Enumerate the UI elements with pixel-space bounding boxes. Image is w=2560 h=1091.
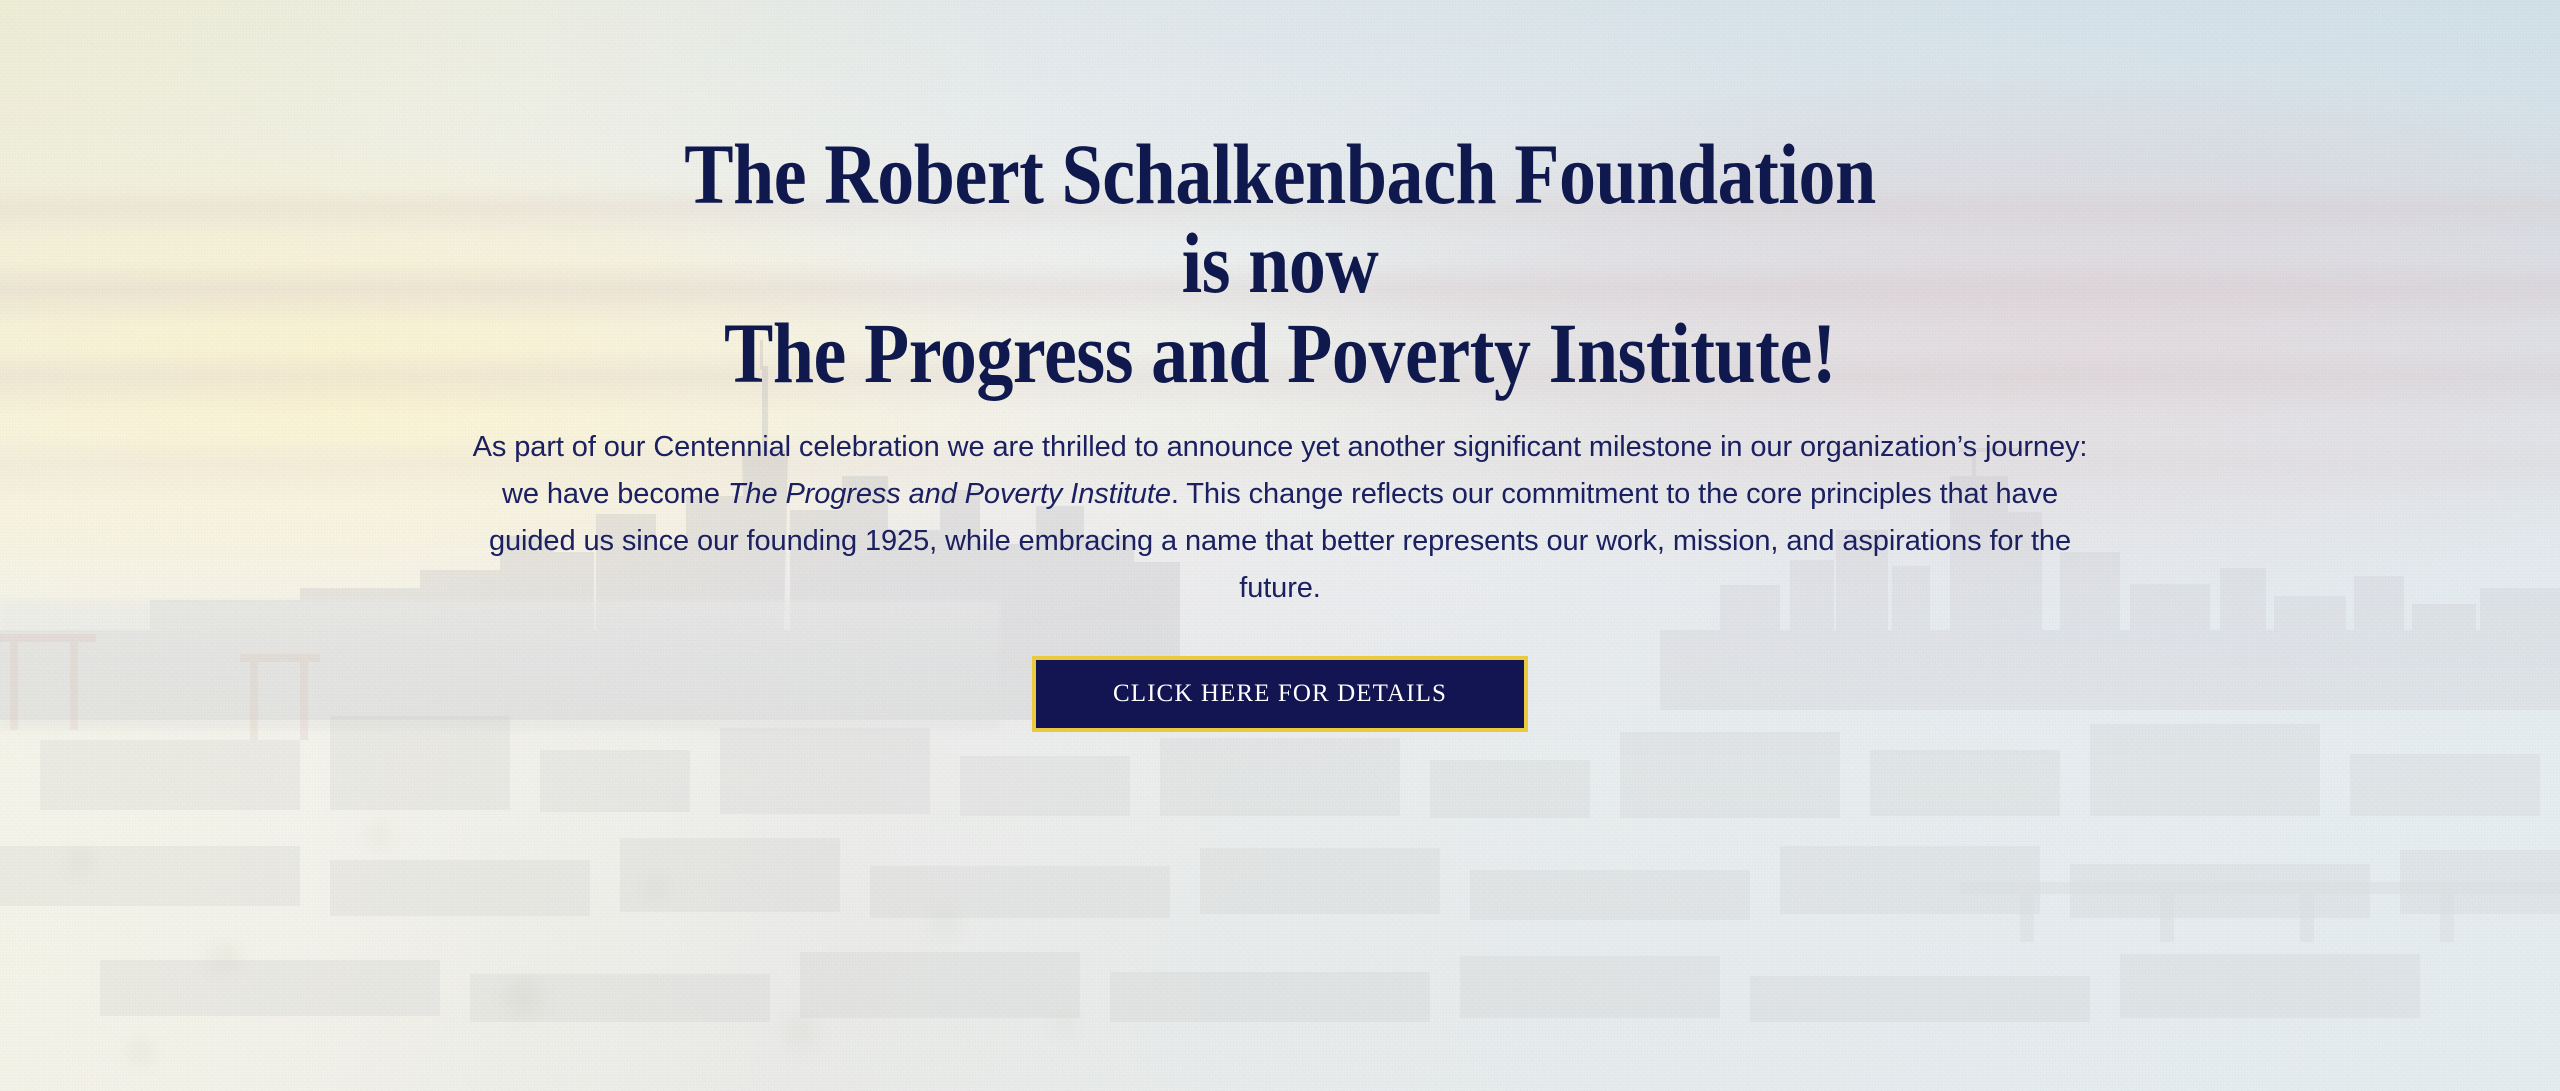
hero-content: The Robert Schalkenbach Foundation is no…	[0, 0, 2560, 1091]
hero-banner: The Robert Schalkenbach Foundation is no…	[0, 0, 2560, 1091]
page-title: The Robert Schalkenbach Foundation is no…	[179, 0, 2381, 398]
click-here-for-details-button[interactable]: Click Here for Details	[1032, 656, 1528, 732]
institute-name-emphasis: The Progress and Poverty Institute	[728, 478, 1171, 510]
headline-line-1: The Robert Schalkenbach Foundation	[179, 130, 2381, 219]
headline-line-2: is now	[179, 219, 2381, 308]
announcement-paragraph: As part of our Centennial celebration we…	[460, 424, 2100, 612]
headline-line-3: The Progress and Poverty Institute!	[179, 309, 2381, 398]
cta-container: Click Here for Details	[1032, 656, 1528, 732]
